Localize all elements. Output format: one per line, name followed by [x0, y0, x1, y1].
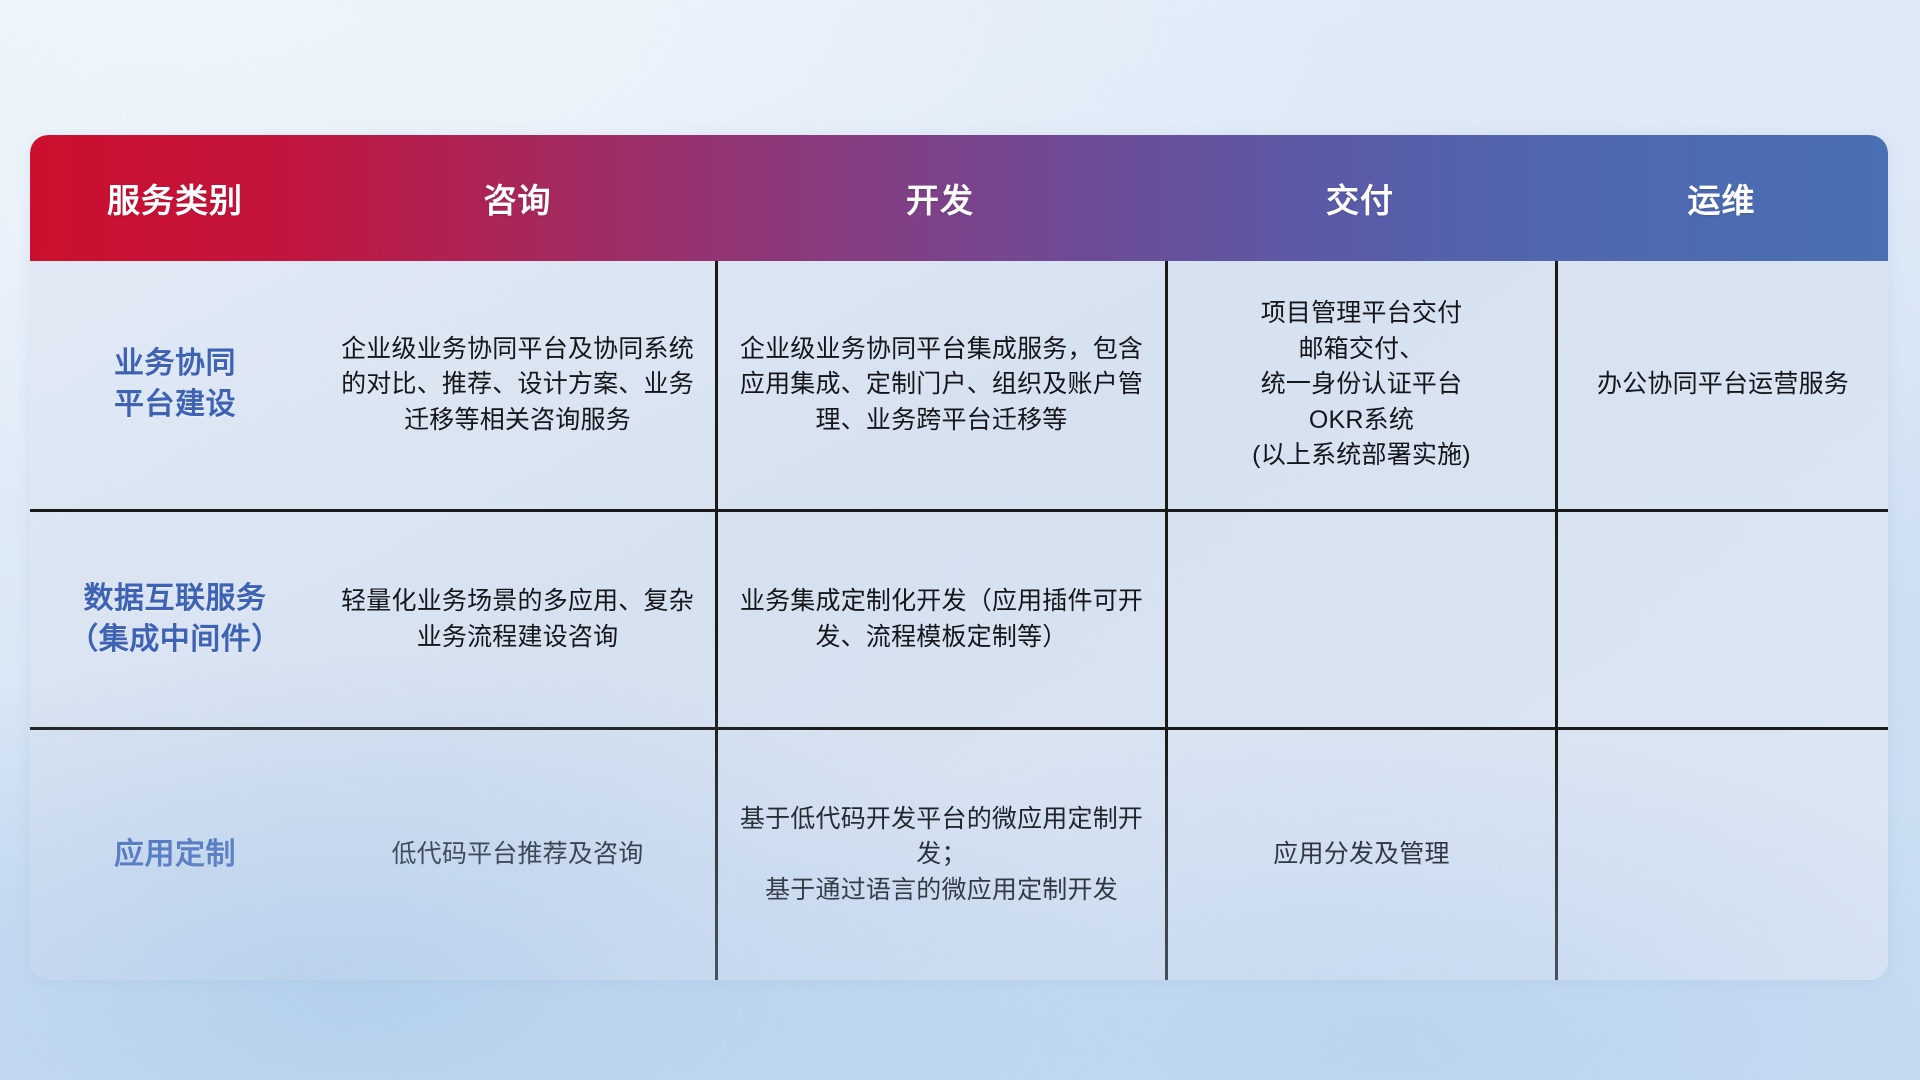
cell-text: 业务集成定制化开发（应用插件可开发、流程模板定制等） — [732, 584, 1151, 655]
row-label-cell: 应用定制 — [30, 730, 320, 980]
column-header-consulting: 咨询 — [320, 135, 715, 261]
service-matrix-table: 服务类别 咨询 开发 交付 运维 业务协同平台建设 企 — [30, 135, 1888, 980]
cell-delivery: 项目管理平台交付邮箱交付、统一身份认证平台OKR系统(以上系统部署实施) — [1165, 261, 1555, 509]
cell-delivery — [1165, 512, 1555, 727]
row-label-cell: 数据互联服务（集成中间件） — [30, 512, 320, 727]
cell-text: 应用分发及管理 — [1273, 837, 1449, 873]
row-label: 业务协同平台建设 — [114, 344, 236, 426]
cell-delivery: 应用分发及管理 — [1165, 730, 1555, 980]
table-header-row: 服务类别 咨询 开发 交付 运维 — [30, 135, 1888, 261]
column-header-label: 服务类别 — [107, 174, 243, 222]
column-header-service-category: 服务类别 — [30, 135, 320, 261]
column-header-delivery: 交付 — [1165, 135, 1555, 261]
table-body: 业务协同平台建设 企业级业务协同平台及协同系统的对比、推荐、设计方案、业务迁移等… — [30, 261, 1888, 980]
cell-text: 企业级业务协同平台集成服务，包含应用集成、定制门户、组织及账户管理、业务跨平台迁… — [732, 332, 1151, 439]
column-header-label: 交付 — [1326, 174, 1394, 222]
column-header-operations: 运维 — [1555, 135, 1888, 261]
column-header-development: 开发 — [715, 135, 1165, 261]
row-label: 数据互联服务（集成中间件） — [68, 579, 282, 661]
cell-consulting: 低代码平台推荐及咨询 — [320, 730, 715, 980]
cell-development: 业务集成定制化开发（应用插件可开发、流程模板定制等） — [715, 512, 1165, 727]
column-header-label: 咨询 — [484, 174, 552, 222]
cell-consulting: 轻量化业务场景的多应用、复杂业务流程建设咨询 — [320, 512, 715, 727]
cell-text: 办公协同平台运营服务 — [1597, 367, 1849, 403]
column-header-label: 运维 — [1688, 174, 1756, 222]
column-header-label: 开发 — [906, 174, 974, 222]
cell-operations — [1555, 730, 1888, 980]
row-label: 应用定制 — [114, 835, 236, 876]
table-row: 数据互联服务（集成中间件） 轻量化业务场景的多应用、复杂业务流程建设咨询 业务集… — [30, 512, 1888, 730]
page-root: 服务类别 咨询 开发 交付 运维 业务协同平台建设 企 — [0, 0, 1920, 1080]
cell-development: 企业级业务协同平台集成服务，包含应用集成、定制门户、组织及账户管理、业务跨平台迁… — [715, 261, 1165, 509]
table-row: 应用定制 低代码平台推荐及咨询 基于低代码开发平台的微应用定制开发；基于通过语言… — [30, 730, 1888, 980]
cell-text: 项目管理平台交付邮箱交付、统一身份认证平台OKR系统(以上系统部署实施) — [1252, 296, 1471, 474]
table-row: 业务协同平台建设 企业级业务协同平台及协同系统的对比、推荐、设计方案、业务迁移等… — [30, 261, 1888, 512]
cell-consulting: 企业级业务协同平台及协同系统的对比、推荐、设计方案、业务迁移等相关咨询服务 — [320, 261, 715, 509]
cell-operations: 办公协同平台运营服务 — [1555, 261, 1888, 509]
cell-operations — [1555, 512, 1888, 727]
cell-text: 企业级业务协同平台及协同系统的对比、推荐、设计方案、业务迁移等相关咨询服务 — [334, 332, 701, 439]
cell-text: 低代码平台推荐及咨询 — [391, 837, 643, 873]
cell-text: 基于低代码开发平台的微应用定制开发；基于通过语言的微应用定制开发 — [732, 802, 1151, 909]
row-label-cell: 业务协同平台建设 — [30, 261, 320, 509]
cell-text: 轻量化业务场景的多应用、复杂业务流程建设咨询 — [334, 584, 701, 655]
cell-development: 基于低代码开发平台的微应用定制开发；基于通过语言的微应用定制开发 — [715, 730, 1165, 980]
